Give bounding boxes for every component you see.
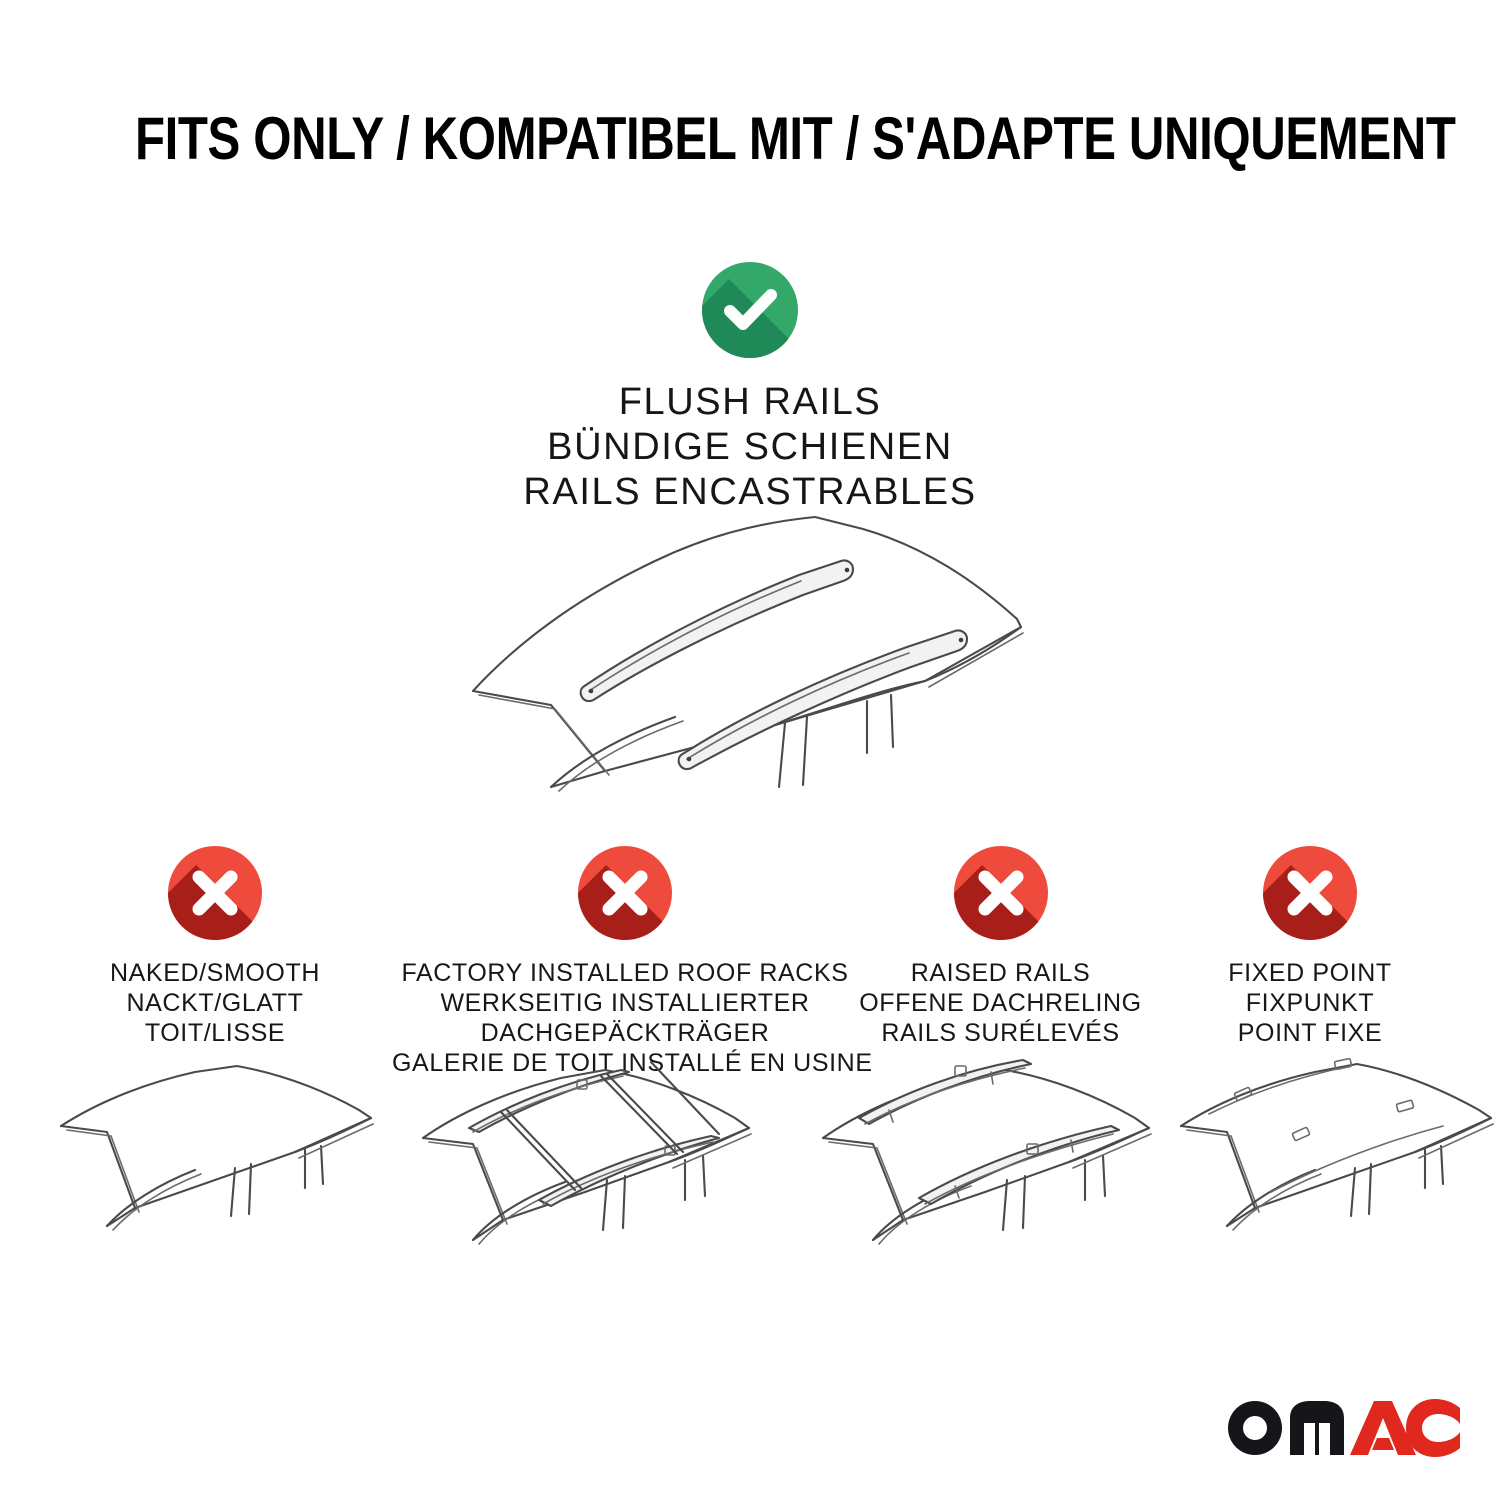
red-cross-circle-icon <box>1263 846 1357 940</box>
logo-letter-c <box>1406 1399 1460 1457</box>
rejected-item-fixed-point: FIXED POINT FIXPUNKT POINT FIXE <box>1160 846 1460 1048</box>
car-roof-with-flush-rails-illustration <box>455 495 1055 795</box>
label-line: FACTORY INSTALLED ROOF RACKS <box>392 958 858 988</box>
label-line: NACKT/GLATT <box>40 988 390 1018</box>
rejected-label-naked-smooth: NAKED/SMOOTH NACKT/GLATT TOIT/LISSE <box>40 958 390 1048</box>
approved-label-line-de: BÜNDIGE SCHIENEN <box>250 425 1250 470</box>
cross-glyph <box>1263 846 1357 940</box>
label-line: POINT FIXE <box>1160 1018 1460 1048</box>
label-line: TOIT/LISSE <box>40 1018 390 1048</box>
rejected-item-naked-smooth: NAKED/SMOOTH NACKT/GLATT TOIT/LISSE <box>40 846 390 1048</box>
label-line: FIXPUNKT <box>1160 988 1460 1018</box>
label-line: RAILS SURÉLEVÉS <box>838 1018 1163 1048</box>
page-title: FITS ONLY / KOMPATIBEL MIT / S'ADAPTE UN… <box>135 104 1365 173</box>
rejected-label-raised-rails: RAISED RAILS OFFENE DACHRELING RAILS SUR… <box>838 958 1163 1048</box>
rejected-item-raised-rails: RAISED RAILS OFFENE DACHRELING RAILS SUR… <box>838 846 1163 1048</box>
rejected-label-fixed-point: FIXED POINT FIXPUNKT POINT FIXE <box>1160 958 1460 1048</box>
car-roof-factory-roof-racks-illustration <box>415 1052 775 1292</box>
car-roof-raised-rails-illustration <box>815 1052 1175 1292</box>
cross-glyph <box>168 846 262 940</box>
approved-section: FLUSH RAILS BÜNDIGE SCHIENEN RAILS ENCAS… <box>250 262 1250 516</box>
cross-glyph <box>954 846 1048 940</box>
label-line: DACHGEPÄCKTRÄGER <box>392 1018 858 1048</box>
label-line: NAKED/SMOOTH <box>40 958 390 988</box>
green-check-circle-icon <box>702 262 798 358</box>
car-roof-naked-smooth-illustration <box>55 1052 395 1292</box>
red-cross-circle-icon <box>954 846 1048 940</box>
omac-logo <box>1222 1390 1462 1458</box>
label-line: WERKSEITIG INSTALLIERTER <box>392 988 858 1018</box>
car-roof-fixed-point-illustration <box>1175 1052 1495 1292</box>
label-line: FIXED POINT <box>1160 958 1460 988</box>
red-cross-circle-icon <box>168 846 262 940</box>
check-glyph <box>702 262 798 358</box>
label-line: RAISED RAILS <box>838 958 1163 988</box>
red-cross-circle-icon <box>578 846 672 940</box>
rejected-item-factory-roof-racks: FACTORY INSTALLED ROOF RACKS WERKSEITIG … <box>392 846 858 1078</box>
cross-glyph <box>578 846 672 940</box>
label-line: OFFENE DACHRELING <box>838 988 1163 1018</box>
approved-label-line-en: FLUSH RAILS <box>250 380 1250 425</box>
